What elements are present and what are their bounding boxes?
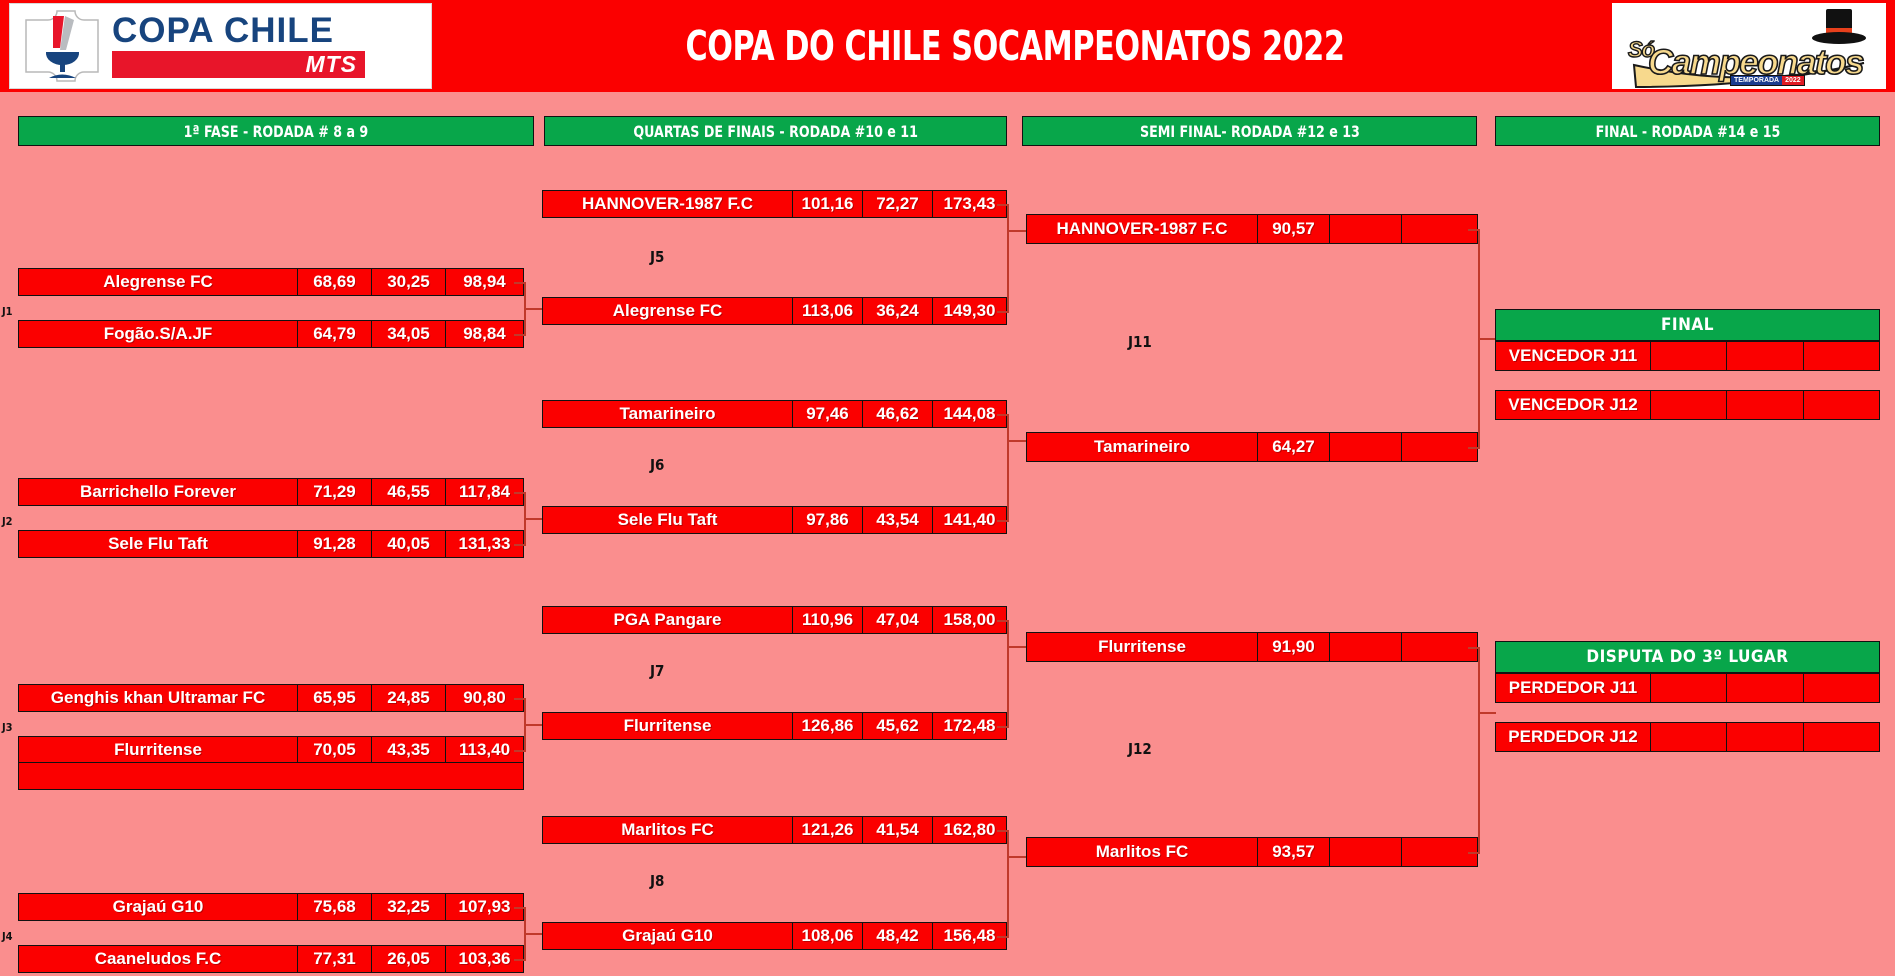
table-row[interactable]: Tamarineiro 64,27 [1026,432,1478,462]
table-row[interactable]: Grajaú G10 75,68 32,25 107,93 [18,893,524,921]
logo-wordmark-line2: MTS [305,51,357,78]
match-code-j7: J7 [650,662,664,680]
team-name: Flurritense [543,713,792,739]
phase-header-fase1: 1ª FASE - RODADA # 8 a 9 [18,116,534,146]
team-name: Flurritense [19,737,297,763]
score-cell-total [1803,674,1879,702]
team-name: PERDEDOR J11 [1496,674,1650,702]
score-cell-1: 70,05 [297,737,371,763]
table-row[interactable]: HANNOVER-1987 F.C 90,57 [1026,214,1478,244]
score-cell-total [1401,433,1477,461]
table-row[interactable]: Marlitos FC 121,26 41,54 162,80 [542,816,1007,844]
score-cell-2: 45,62 [862,713,932,739]
match-code-j2: J2 [2,515,13,528]
score-cell-2: 48,42 [862,923,932,949]
match-code-j1: J1 [2,305,13,318]
team-name: Marlitos FC [543,817,792,843]
team-name: PGA Pangare [543,607,792,633]
top-banner: COPA CHILE MTS COPA DO CHILE SOCAMPEONAT… [0,0,1895,92]
page-title: COPA DO CHILE SOCAMPEONATOS 2022 [544,0,1487,92]
score-cell-total: 156,48 [932,923,1006,949]
logo-wordmark-line1: COPA CHILE [112,14,365,47]
connector [514,698,526,700]
team-name: Sele Flu Taft [543,507,792,533]
score-cell-total [1803,342,1879,370]
match-code-j8: J8 [650,872,664,890]
team-name: Flurritense [1027,633,1257,661]
score-cell-total: 173,43 [932,191,1006,217]
connector [1007,620,1009,726]
so-campeonatos-logo: Só Campeonatos TEMPORADA 2022 [1612,3,1886,89]
score-cell-1: 110,96 [792,607,862,633]
score-cell-total: 158,00 [932,607,1006,633]
score-cell-2: 24,85 [371,685,445,711]
score-cell-2 [1329,215,1401,243]
team-name: Tamarineiro [1027,433,1257,461]
score-cell-2: 36,24 [862,298,932,324]
score-cell-total: 144,08 [932,401,1006,427]
team-name: Fogão.S/A.JF [19,321,297,347]
score-cell-total: 172,48 [932,713,1006,739]
team-name: HANNOVER-1987 F.C [1027,215,1257,243]
team-name: Tamarineiro [543,401,792,427]
connector [1007,830,1009,936]
score-cell-total: 98,94 [445,269,523,295]
score-cell-2: 26,05 [371,946,445,972]
score-cell-1: 91,28 [297,531,371,557]
connector [1007,440,1027,442]
bracket-page: COPA CHILE MTS COPA DO CHILE SOCAMPEONAT… [0,0,1895,976]
connector [514,750,526,752]
score-cell-1: 126,86 [792,713,862,739]
connector [997,311,1009,313]
team-name: Marlitos FC [1027,838,1257,866]
connector [514,334,526,336]
score-cell-1: 97,86 [792,507,862,533]
score-cell-2: 43,54 [862,507,932,533]
phase-header-quartas: QUARTAS DE FINAIS - RODADA #10 e 11 [544,116,1007,146]
score-cell-1: 90,57 [1257,215,1329,243]
team-name: Genghis khan Ultramar FC [19,685,297,711]
table-row[interactable]: Fogão.S/A.JF 64,79 34,05 98,84 [18,320,524,348]
connector [514,282,526,284]
connector [997,620,1009,622]
team-name: Alegrense FC [19,269,297,295]
table-row[interactable]: HANNOVER-1987 F.C 101,16 72,27 173,43 [542,190,1007,218]
score-cell-1: 108,06 [792,923,862,949]
score-cell-1: 121,26 [792,817,862,843]
connector [1007,230,1027,232]
third-place-block-title: DISPUTA DO 3º LUGAR [1495,641,1880,673]
team-name: Alegrense FC [543,298,792,324]
score-cell-1 [1650,391,1726,419]
connector [1007,646,1027,648]
match-code-j11: J11 [1128,333,1152,351]
connector [997,726,1009,728]
score-cell-total: 103,36 [445,946,523,972]
connector [997,936,1009,938]
connector [514,959,526,961]
table-row[interactable]: Flurritense 126,86 45,62 172,48 [542,712,1007,740]
score-cell-total: 131,33 [445,531,523,557]
score-cell-total [1401,215,1477,243]
table-row[interactable]: Alegrense FC 68,69 30,25 98,94 [18,268,524,296]
score-cell-total: 90,80 [445,685,523,711]
team-name: HANNOVER-1987 F.C [543,191,792,217]
score-cell-2 [1726,391,1802,419]
team-name: VENCEDOR J11 [1496,342,1650,370]
score-cell-2 [1329,838,1401,866]
score-cell-1: 68,69 [297,269,371,295]
connector [514,907,526,909]
score-cell-2: 32,25 [371,894,445,920]
connector [514,544,526,546]
temporada-year: 2022 [1782,76,1804,85]
score-cell-1: 93,57 [1257,838,1329,866]
table-row[interactable]: VENCEDOR J11 [1495,341,1880,371]
phase-header-semi: SEMI FINAL- RODADA #12 e 13 [1022,116,1477,146]
score-cell-1: 75,68 [297,894,371,920]
copa-chile-logo: COPA CHILE MTS [9,3,432,89]
match-code-j4: J4 [2,930,13,943]
table-row[interactable]: Flurritense 91,90 [1026,632,1478,662]
table-row[interactable]: Caaneludos F.C 77,31 26,05 103,36 [18,945,524,973]
temporada-label: TEMPORADA [1731,76,1782,85]
score-cell-1 [1650,674,1726,702]
score-cell-1: 64,27 [1257,433,1329,461]
score-cell-2 [1726,723,1802,751]
score-cell-2: 40,05 [371,531,445,557]
table-row[interactable]: Grajaú G10 108,06 48,42 156,48 [542,922,1007,950]
team-name: Caaneludos F.C [19,946,297,972]
team-name: Sele Flu Taft [19,531,297,557]
score-cell-total: 98,84 [445,321,523,347]
team-name: Grajaú G10 [543,923,792,949]
score-cell-1: 91,90 [1257,633,1329,661]
connector [997,830,1009,832]
connector [1007,414,1009,520]
team-name: VENCEDOR J12 [1496,391,1650,419]
connector [997,204,1009,206]
table-row[interactable]: Flurritense 70,05 43,35 113,40 [18,736,524,764]
score-cell-2: 41,54 [862,817,932,843]
table-row-spacer [18,762,524,790]
temporada-badge: TEMPORADA 2022 [1730,75,1805,86]
table-row[interactable]: Genghis khan Ultramar FC 65,95 24,85 90,… [18,684,524,712]
connector [1007,856,1027,858]
connector [1478,647,1480,852]
connector [1468,852,1480,854]
connector [1468,647,1480,649]
team-name: Grajaú G10 [19,894,297,920]
score-cell-2 [1726,342,1802,370]
score-cell-total: 117,84 [445,479,523,505]
team-name: Barrichello Forever [19,479,297,505]
score-cell-2: 34,05 [371,321,445,347]
score-cell-2 [1329,433,1401,461]
score-cell-2 [1329,633,1401,661]
table-row[interactable]: Alegrense FC 113,06 36,24 149,30 [542,297,1007,325]
trophy-cup-icon [16,8,108,84]
score-cell-1: 71,29 [297,479,371,505]
score-cell-2: 43,35 [371,737,445,763]
table-row[interactable]: Marlitos FC 93,57 [1026,837,1478,867]
connector [1468,447,1480,449]
match-code-j5: J5 [650,248,664,266]
table-row[interactable]: Tamarineiro 97,46 46,62 144,08 [542,400,1007,428]
score-cell-1 [1650,342,1726,370]
score-cell-2: 46,55 [371,479,445,505]
match-code-j6: J6 [650,456,664,474]
match-code-j12: J12 [1128,740,1152,758]
score-cell-1: 113,06 [792,298,862,324]
phase-header-final: FINAL - RODADA #14 e 15 [1495,116,1880,146]
table-row[interactable]: PERDEDOR J11 [1495,673,1880,703]
connector [1478,712,1496,714]
connector [514,492,526,494]
table-row[interactable]: PERDEDOR J12 [1495,722,1880,752]
table-row[interactable]: PGA Pangare 110,96 47,04 158,00 [542,606,1007,634]
score-cell-1 [1650,723,1726,751]
table-row[interactable]: VENCEDOR J12 [1495,390,1880,420]
connector [997,414,1009,416]
score-cell-total [1401,838,1477,866]
score-cell-total: 141,40 [932,507,1006,533]
score-cell-total [1401,633,1477,661]
score-cell-total: 162,80 [932,817,1006,843]
table-row[interactable]: Barrichello Forever 71,29 46,55 117,84 [18,478,524,506]
score-cell-1: 65,95 [297,685,371,711]
score-cell-total: 113,40 [445,737,523,763]
score-cell-2: 46,62 [862,401,932,427]
score-cell-1: 64,79 [297,321,371,347]
connector [1468,229,1480,231]
score-cell-total: 149,30 [932,298,1006,324]
match-code-j3: J3 [2,721,13,734]
score-cell-2: 47,04 [862,607,932,633]
table-row[interactable]: Sele Flu Taft 97,86 43,54 141,40 [542,506,1007,534]
score-cell-1: 97,46 [792,401,862,427]
team-name: PERDEDOR J12 [1496,723,1650,751]
connector [1478,338,1496,340]
score-cell-total: 107,93 [445,894,523,920]
score-cell-total [1803,723,1879,751]
score-cell-2: 30,25 [371,269,445,295]
connector [1007,204,1009,311]
connector [997,520,1009,522]
score-cell-total [1803,391,1879,419]
score-cell-2: 72,27 [862,191,932,217]
table-row[interactable]: Sele Flu Taft 91,28 40,05 131,33 [18,530,524,558]
score-cell-1: 77,31 [297,946,371,972]
final-block-title: FINAL [1495,309,1880,341]
score-cell-2 [1726,674,1802,702]
score-cell-1: 101,16 [792,191,862,217]
